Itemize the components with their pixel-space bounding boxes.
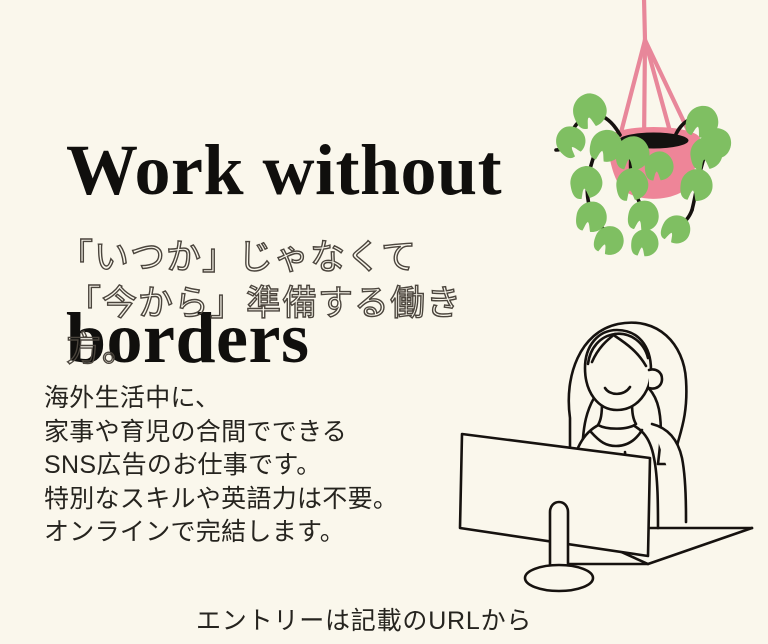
ear (649, 369, 662, 388)
monitor-base (525, 565, 593, 591)
woman-at-computer-illustration (452, 306, 768, 606)
body-line-1: 海外生活中に、 (44, 382, 394, 416)
monitor-neck (550, 502, 568, 574)
body-copy: 海外生活中に、 家事や育児の合間でできる SNS広告のお仕事です。 特別なスキル… (44, 382, 394, 550)
body-line-3: SNS広告のお仕事です。 (44, 449, 394, 483)
hanging-plant-illustration (548, 0, 768, 296)
subtitle-line-1: 「いつか」じゃなくて (58, 235, 528, 281)
body-line-4: 特別なスキルや英語力は不要。 (44, 483, 394, 517)
poster-canvas: Work without borders 「いつか」じゃなくて 「今から」準備す… (0, 0, 768, 644)
body-line-5: オンラインで完結します。 (44, 516, 394, 550)
desk-front-edge (648, 528, 752, 564)
body-line-2: 家事や育児の合間でできる (44, 416, 394, 450)
entry-instruction-text: エントリーは記載のURLから (196, 604, 532, 638)
headline-line-1: Work without (66, 128, 536, 212)
